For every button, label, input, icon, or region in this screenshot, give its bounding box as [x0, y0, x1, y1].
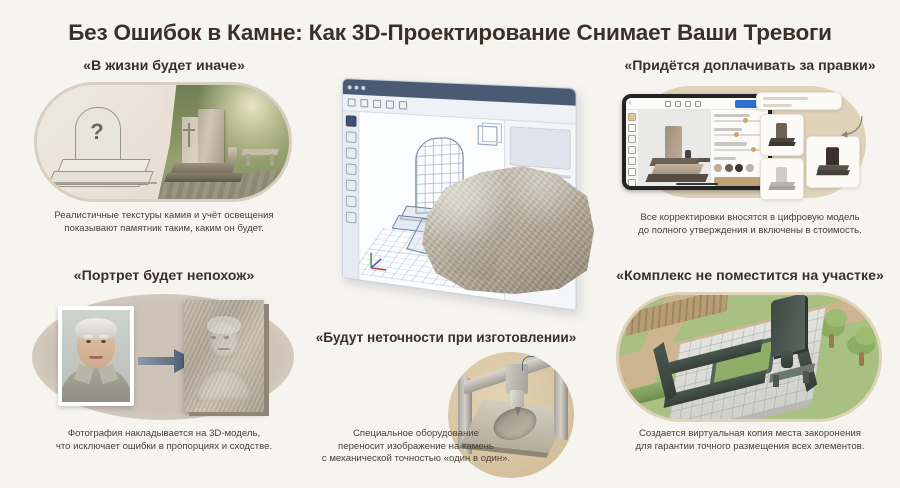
tablet-device: ‹ [622, 94, 772, 190]
card-line [763, 104, 792, 107]
panel-caption: Все корректировки вносятся в цифровую мо… [604, 212, 896, 237]
panel-caption: Реалистичные текстуры камия и учёт освещ… [24, 210, 304, 235]
slider-handle[interactable] [751, 147, 756, 152]
caption-line: Создается виртуальная копия места закоро… [604, 428, 896, 441]
window-dot-icon [348, 85, 352, 89]
caption-line: показывают памятник таким, каким он буде… [24, 223, 304, 236]
property-label [714, 114, 750, 117]
bench-leg [270, 154, 274, 166]
caption-line: Все корректировки вносятся в цифровую мо… [604, 212, 896, 225]
material-tool-icon[interactable] [345, 195, 356, 207]
variant-thumbnail [769, 167, 795, 193]
portrait-eyebrow [84, 335, 93, 338]
plot-stele [771, 293, 805, 357]
portrait-shirt [62, 366, 130, 402]
panel-title: «Придётся доплачивать за правки» [604, 58, 896, 74]
property-label [714, 142, 747, 145]
panel-artwork [24, 290, 304, 425]
caption-line: переносит изображение на камень [296, 441, 536, 454]
panel-title: «Портрет будет непохож» [24, 268, 304, 284]
cnc-spindle [510, 390, 524, 408]
select-tool-icon[interactable] [628, 113, 636, 121]
tree-crown [825, 309, 847, 327]
caption-line: Реалистичные текстуры камия и учёт освещ… [24, 210, 304, 223]
color-swatch[interactable] [725, 164, 733, 172]
color-swatch[interactable] [746, 164, 754, 172]
model-bench [696, 158, 710, 162]
thumb-stele [776, 123, 787, 138]
toolbar-icon[interactable] [360, 99, 368, 108]
portrait-eye [101, 340, 106, 343]
monument-stele [198, 109, 224, 165]
portrait-mouth [89, 356, 103, 359]
caption-line: до полного утверждения и включены в стои… [604, 225, 896, 238]
cad-preview-thumb [510, 126, 571, 170]
tablet-topbar: ‹ [626, 98, 768, 110]
thumb-base-lower [768, 186, 796, 190]
panel-life-will-differ: «В жизни будет иначе» ? [24, 58, 304, 250]
center-cad-illustration [318, 72, 608, 304]
circle-tool-icon[interactable] [345, 163, 356, 175]
pen-tool-icon[interactable] [628, 135, 636, 143]
toolbar-icon[interactable] [373, 100, 381, 109]
panel-manufacturing-accuracy: «Будут неточности при изготовлении» Спец… [296, 330, 596, 488]
window-dot-icon [361, 85, 365, 89]
slider-handle[interactable] [743, 118, 748, 123]
move-tool-icon[interactable] [345, 211, 356, 223]
engraved-eye [211, 336, 216, 339]
model-stele [665, 126, 682, 159]
panel-artwork: ? [24, 80, 304, 205]
panel-extra-charges: «Придётся доплачивать за правки» ‹ [604, 58, 896, 250]
curved-arrow-icon [838, 114, 864, 138]
color-swatch[interactable] [735, 164, 743, 172]
card-line [763, 97, 808, 100]
color-swatch[interactable] [714, 164, 722, 172]
variant-thumbnail [817, 147, 849, 179]
panel-portrait-likeness: «Портрет будет непохож» [24, 268, 304, 458]
thumb-base-lower [768, 142, 796, 146]
toolbar-icon[interactable] [386, 100, 394, 109]
settings-icon[interactable] [695, 101, 701, 107]
tree-trunk [829, 334, 834, 348]
monument-base [164, 173, 243, 182]
panel-caption: Создается виртуальная копия места закоро… [604, 428, 896, 453]
sketch-half: ? [37, 85, 163, 199]
engraved-mouth [218, 348, 230, 350]
engraved-shirt [196, 368, 252, 402]
view-cube-icon[interactable] [478, 125, 498, 146]
text-tool-icon[interactable] [628, 146, 636, 154]
undo-icon[interactable] [665, 101, 671, 107]
engraved-hair [207, 316, 241, 334]
variant-header-card [756, 92, 842, 110]
thumb-base-lower [816, 170, 850, 175]
granite-slab [184, 300, 264, 412]
pan-icon[interactable] [685, 101, 691, 107]
panel-title: «Будут неточности при изготовлении» [296, 330, 596, 345]
caption-line: с механической точностью «один в один». [296, 453, 536, 466]
portrait-photo-frame [58, 306, 134, 406]
slider-handle[interactable] [734, 132, 739, 137]
move-tool-icon[interactable] [628, 179, 636, 186]
thumb-stele [826, 147, 839, 165]
portrait-photo [62, 310, 130, 402]
sketch-ground-line [41, 182, 157, 184]
bench-leg [246, 154, 250, 166]
portrait-hair [75, 318, 117, 340]
variant-card[interactable] [760, 158, 804, 200]
variant-card[interactable] [760, 114, 804, 156]
home-indicator [676, 183, 718, 185]
shape-tool-icon[interactable] [628, 124, 636, 132]
tree-crown [855, 327, 877, 345]
panel-artwork [604, 290, 896, 428]
tablet-tool-group [634, 101, 732, 107]
caption-line: Специальное оборудование [296, 428, 536, 441]
line-tool-icon[interactable] [345, 147, 356, 159]
monument-side-panel [182, 117, 199, 165]
cnc-cable [522, 356, 539, 371]
engraved-portrait [193, 310, 255, 402]
variant-thumbnail [769, 123, 795, 149]
cnc-rail [554, 363, 568, 442]
split-sketch-photo-frame: ? [34, 82, 292, 202]
portrait-eye [86, 340, 91, 343]
tablet-tool-rail [626, 110, 639, 186]
infographic-root: Без Ошибок в Камне: Как 3D-Проектировани… [0, 0, 900, 488]
color-tool-icon[interactable] [628, 168, 636, 176]
caption-line: что исключает ошибки в пропорциях и сход… [24, 441, 304, 454]
thumb-stele [776, 167, 787, 182]
panel-title: «Комплекс не поместится на участке» [604, 268, 896, 284]
variant-card-stack [756, 90, 868, 194]
question-mark-label: ? [75, 119, 119, 145]
window-dot-icon [355, 85, 359, 89]
bench-leg [803, 371, 809, 383]
tablet-screen: ‹ [626, 98, 768, 186]
photo-half [158, 85, 289, 199]
toolbar-icon[interactable] [348, 98, 356, 106]
redo-icon[interactable] [675, 101, 681, 107]
bench-leg [773, 375, 779, 387]
cnc-cutting-bit [515, 407, 521, 416]
back-chevron-icon[interactable]: ‹ [629, 100, 631, 107]
measure-tool-icon[interactable] [345, 179, 356, 191]
axis-gizmo-icon [367, 247, 391, 275]
tree-icon [847, 335, 875, 355]
monument-vase [228, 147, 237, 162]
isometric-plot-scene [616, 292, 882, 422]
layers-icon[interactable] [628, 157, 636, 165]
plot-vase [781, 351, 793, 368]
portrait-eyebrow [99, 335, 108, 338]
variant-card-selected[interactable] [806, 136, 860, 188]
tablet-body [626, 110, 768, 186]
select-tool-icon[interactable] [345, 115, 356, 127]
tree-trunk [859, 352, 864, 366]
page-title: Без Ошибок в Камне: Как 3D-Проектировани… [0, 20, 900, 46]
panel-caption: Фотография накладывается на 3D-модель, ч… [24, 428, 304, 453]
property-label [714, 128, 742, 131]
toolbar-icon[interactable] [399, 101, 407, 110]
panel-caption: Специальное оборудование переносит изобр… [296, 428, 536, 466]
tablet-canvas[interactable] [639, 110, 710, 186]
caption-line: Фотография накладывается на 3D-модель, [24, 428, 304, 441]
caption-line: для гарантии точного размещения всех эле… [604, 441, 896, 454]
model-base [645, 174, 708, 182]
cross-icon [188, 123, 190, 147]
panel-title: «В жизни будет иначе» [24, 58, 304, 74]
panel-plot-fit: «Комплекс не поместится на участке» [604, 268, 896, 458]
engraved-eye [224, 336, 229, 339]
box-tool-icon[interactable] [345, 131, 356, 143]
property-label [714, 157, 736, 160]
panel-artwork: ‹ [604, 80, 896, 208]
cad-tool-rail [343, 111, 359, 280]
